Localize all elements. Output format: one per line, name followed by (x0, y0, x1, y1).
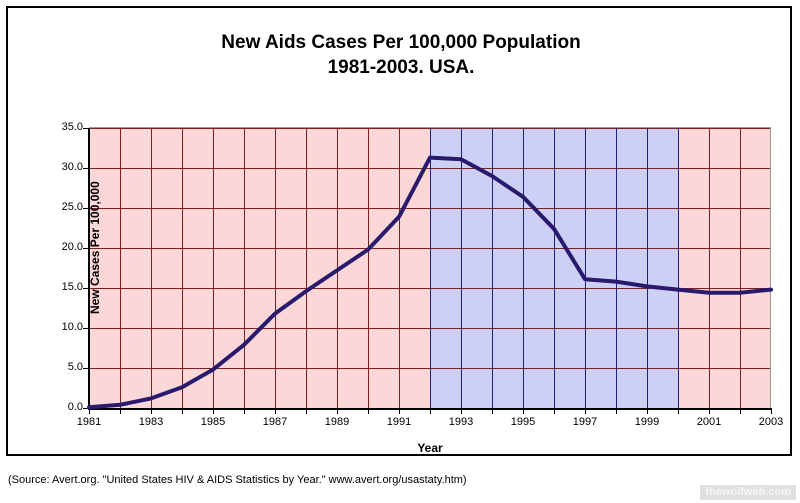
x-tick-2000 (678, 408, 679, 414)
x-tick-1998 (616, 408, 617, 414)
x-tick-1989 (337, 408, 338, 414)
x-tick-label-2003: 2003 (747, 416, 795, 428)
x-tick-1996 (554, 408, 555, 414)
series-line (89, 128, 771, 408)
x-tick-label-1985: 1985 (189, 416, 237, 428)
x-tick-1992 (430, 408, 431, 414)
x-tick-2001 (709, 408, 710, 414)
x-tick-1986 (244, 408, 245, 414)
x-tick-label-1981: 1981 (65, 416, 113, 428)
x-tick-1982 (120, 408, 121, 414)
x-tick-label-1995: 1995 (499, 416, 547, 428)
x-tick-1995 (523, 408, 524, 414)
screenshot-root: New Aids Cases Per 100,000 Population 19… (0, 0, 800, 503)
y-tick-label-20.0: 20.0 (23, 241, 83, 253)
x-tick-label-2001: 2001 (685, 416, 733, 428)
x-tick-2002 (740, 408, 741, 414)
x-tick-1988 (306, 408, 307, 414)
x-tick-label-1989: 1989 (313, 416, 361, 428)
x-tick-1984 (182, 408, 183, 414)
plot-area: 0.05.010.015.020.025.030.035.0 198119831… (89, 128, 771, 408)
x-tick-label-1997: 1997 (561, 416, 609, 428)
title-line-1: New Aids Cases Per 100,000 Population (8, 30, 794, 55)
page-title: New Aids Cases Per 100,000 Population 19… (8, 30, 794, 80)
y-tick-label-25.0: 25.0 (23, 201, 83, 213)
x-tick-label-1991: 1991 (375, 416, 423, 428)
x-tick-1993 (461, 408, 462, 414)
x-tick-2003 (771, 408, 772, 414)
x-tick-label-1987: 1987 (251, 416, 299, 428)
watermark: thewolfweb.com (700, 485, 796, 500)
y-tick-label-15.0: 15.0 (23, 281, 83, 293)
x-tick-1990 (368, 408, 369, 414)
y-tick-label-5.0: 5.0 (23, 361, 83, 373)
x-tick-1994 (492, 408, 493, 414)
y-axis-title: New Cases Per 100,000 (88, 181, 102, 314)
x-tick-label-1999: 1999 (623, 416, 671, 428)
x-tick-1991 (399, 408, 400, 414)
x-tick-1999 (647, 408, 648, 414)
title-line-2: 1981-2003. USA. (8, 55, 794, 80)
x-tick-label-1993: 1993 (437, 416, 485, 428)
x-tick-1985 (213, 408, 214, 414)
source-note: (Source: Avert.org. "United States HIV &… (8, 474, 467, 486)
chart-frame: New Aids Cases Per 100,000 Population 19… (6, 6, 792, 456)
x-tick-1987 (275, 408, 276, 414)
x-axis-title: Year (89, 441, 771, 455)
y-tick-label-35.0: 35.0 (23, 121, 83, 133)
x-tick-1997 (585, 408, 586, 414)
y-tick-label-10.0: 10.0 (23, 321, 83, 333)
x-tick-1983 (151, 408, 152, 414)
x-tick-label-1983: 1983 (127, 416, 175, 428)
y-tick-label-0.0: 0.0 (23, 401, 83, 413)
y-tick-label-30.0: 30.0 (23, 161, 83, 173)
